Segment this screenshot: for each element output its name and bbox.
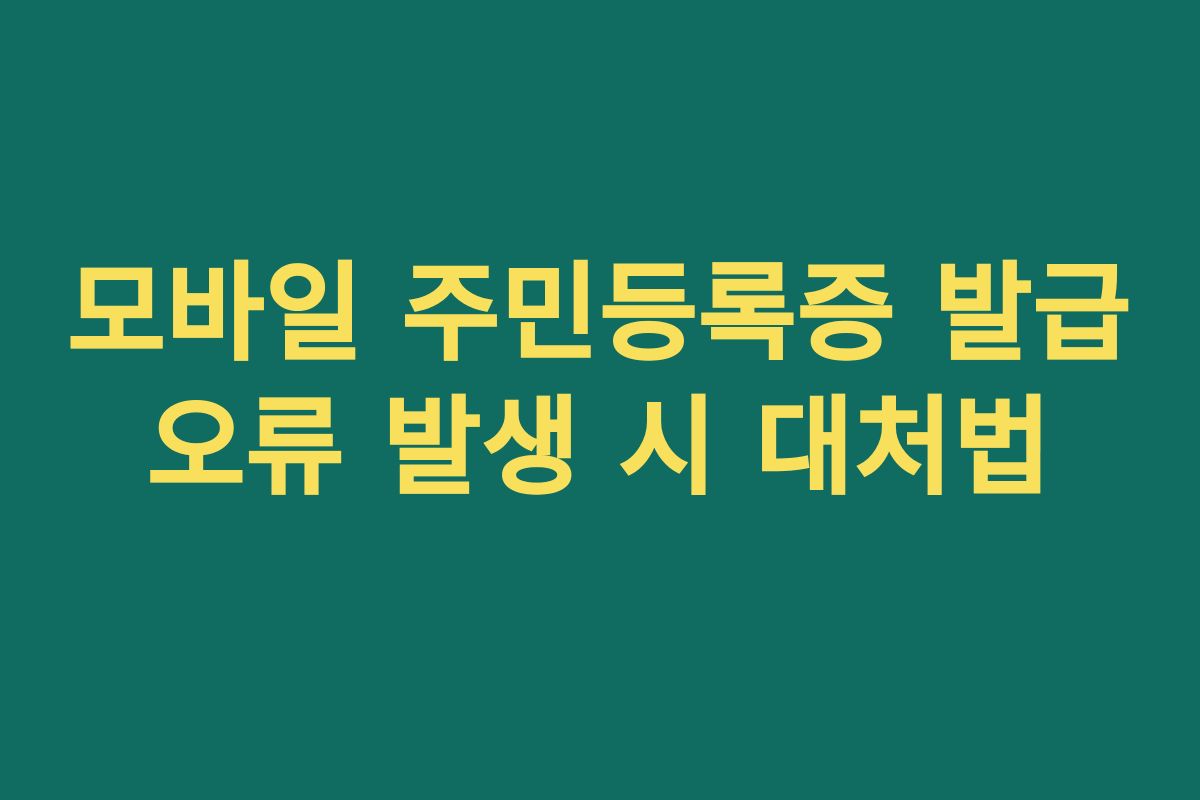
title-line-2: 오류 발생 시 대처법 [148,381,1053,515]
title-line-1: 모바일 주민등록증 발급 [68,247,1132,381]
thumbnail-card: 모바일 주민등록증 발급 오류 발생 시 대처법 [0,0,1200,800]
title-block: 모바일 주민등록증 발급 오류 발생 시 대처법 [0,247,1200,514]
